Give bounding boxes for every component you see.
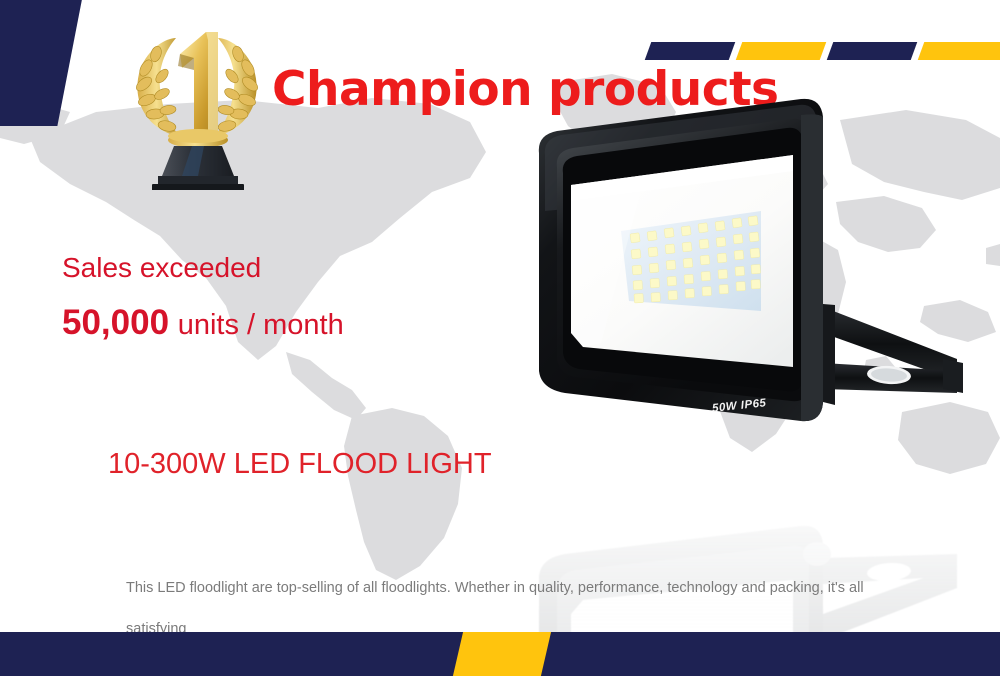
trophy-icon	[118, 18, 270, 190]
product-headline: 10-300W LED FLOOD LIGHT	[108, 448, 492, 481]
top-bar-gold-1	[736, 42, 827, 60]
trophy-number-one	[178, 32, 218, 136]
sales-unit: units / month	[178, 309, 344, 341]
floodlight-bracket	[811, 303, 963, 405]
floodlight-housing	[539, 99, 823, 421]
sales-number: 50,000	[62, 303, 169, 342]
sales-label: Sales exceeded	[62, 252, 261, 284]
led-floodlight-icon	[505, 75, 975, 475]
promo-banner: Champion products Sales exceeded 50,000 …	[0, 0, 1000, 676]
top-bar-gold-2	[918, 42, 1000, 60]
navy-accent-shape-left	[0, 0, 83, 126]
top-bar-navy-2	[827, 42, 918, 60]
bottom-gold-accent	[453, 632, 551, 676]
sales-figure: 50,000 units / month	[62, 303, 344, 343]
top-bar-navy-1	[645, 42, 736, 60]
